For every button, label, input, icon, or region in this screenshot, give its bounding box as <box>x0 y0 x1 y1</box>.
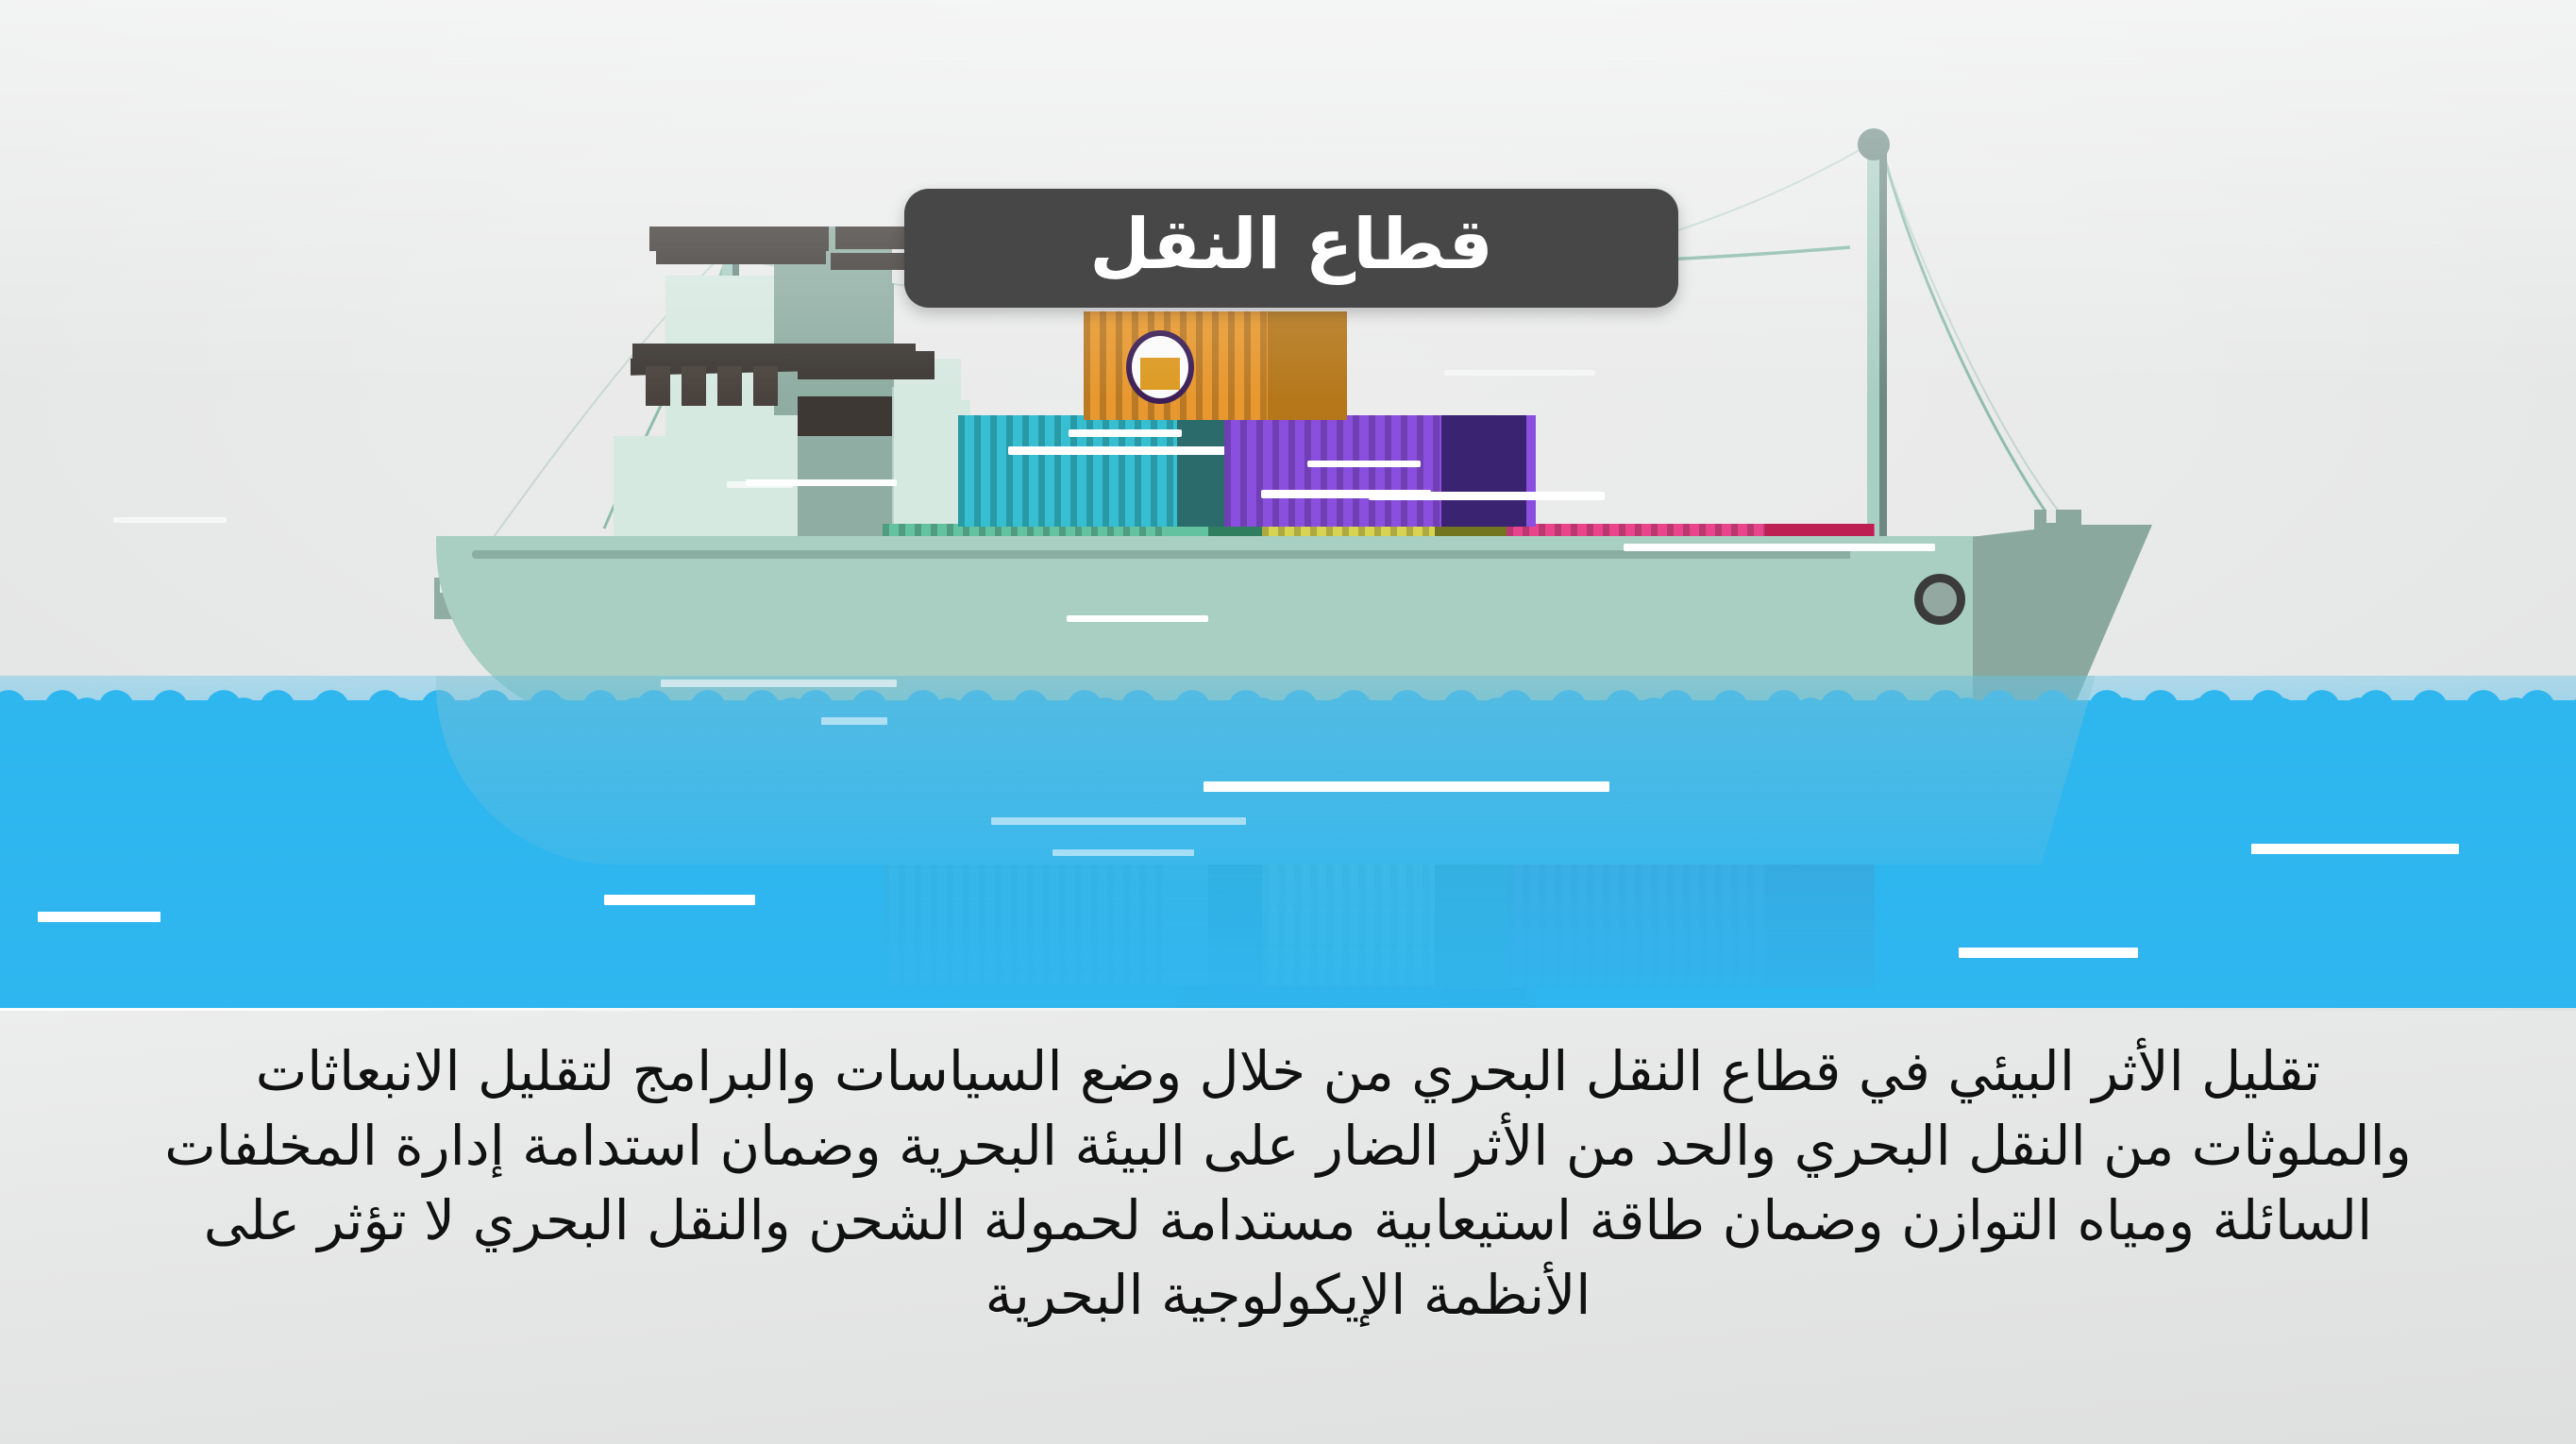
caption-line-3: السائلة ومياه التوازن وضمان طاقة استيعاب… <box>80 1184 2497 1258</box>
foam-streak <box>604 895 755 905</box>
light-streak <box>1624 544 1935 551</box>
foam-streak <box>661 680 897 687</box>
foam-streak <box>1204 781 1609 792</box>
porthole-icon <box>1914 574 1965 625</box>
foam-streak <box>1959 948 2138 958</box>
funnel-dark-panel <box>798 396 892 436</box>
container-top-orange-side <box>1268 311 1347 420</box>
fore-mast-shade <box>1879 142 1887 547</box>
foam-streak <box>38 912 160 922</box>
ship-reflection <box>0 676 2576 1008</box>
illustration-scene: قطاع النقل <box>0 0 2576 1008</box>
fore-mast-finial <box>1858 128 1890 160</box>
slide: قطاع النقل تقليل الأثر البيئي في قطاع ال… <box>0 0 2576 1444</box>
light-streak <box>1067 615 1208 622</box>
funnel-edge <box>892 387 949 546</box>
container-stripe <box>1307 461 1421 467</box>
caption-line-4: الأنظمة الإيكولوجية البحرية <box>80 1258 2497 1333</box>
container-mid-purple-side <box>1441 415 1526 527</box>
title-plate: قطاع النقل <box>904 189 1678 308</box>
roof-bar-left2 <box>656 249 826 264</box>
caption-line-1: تقليل الأثر البيئي في قطاع النقل البحري … <box>80 1034 2497 1109</box>
window <box>753 366 778 406</box>
caption-band: تقليل الأثر البيئي في قطاع النقل البحري … <box>0 1008 2576 1444</box>
foam-streak <box>991 817 1246 825</box>
foam-streak <box>821 717 887 725</box>
title-text: قطاع النقل <box>1089 210 1492 279</box>
caption-text: تقليل الأثر البيئي في قطاع النقل البحري … <box>80 1034 2497 1333</box>
bridge-band-3 <box>798 351 934 379</box>
light-streak <box>1444 370 1595 376</box>
caption-line-2: والملوثات من النقل البحري والحد من الأثر… <box>80 1109 2497 1184</box>
sea <box>0 676 2576 1008</box>
window <box>646 366 670 406</box>
bow-bollard-gap <box>2046 510 2056 523</box>
fore-mast <box>1867 142 1879 547</box>
bow-bollard <box>2034 510 2081 540</box>
light-streak <box>746 479 897 486</box>
window <box>682 366 706 406</box>
roof-bar-left <box>649 227 829 251</box>
foam-streak <box>1052 849 1194 856</box>
foam-streak <box>2251 844 2459 854</box>
light-streak <box>113 517 227 523</box>
container-stripe <box>1369 492 1605 500</box>
cargo-badge-icon <box>1126 330 1194 404</box>
window <box>717 366 742 406</box>
container-stripe <box>1069 429 1182 437</box>
